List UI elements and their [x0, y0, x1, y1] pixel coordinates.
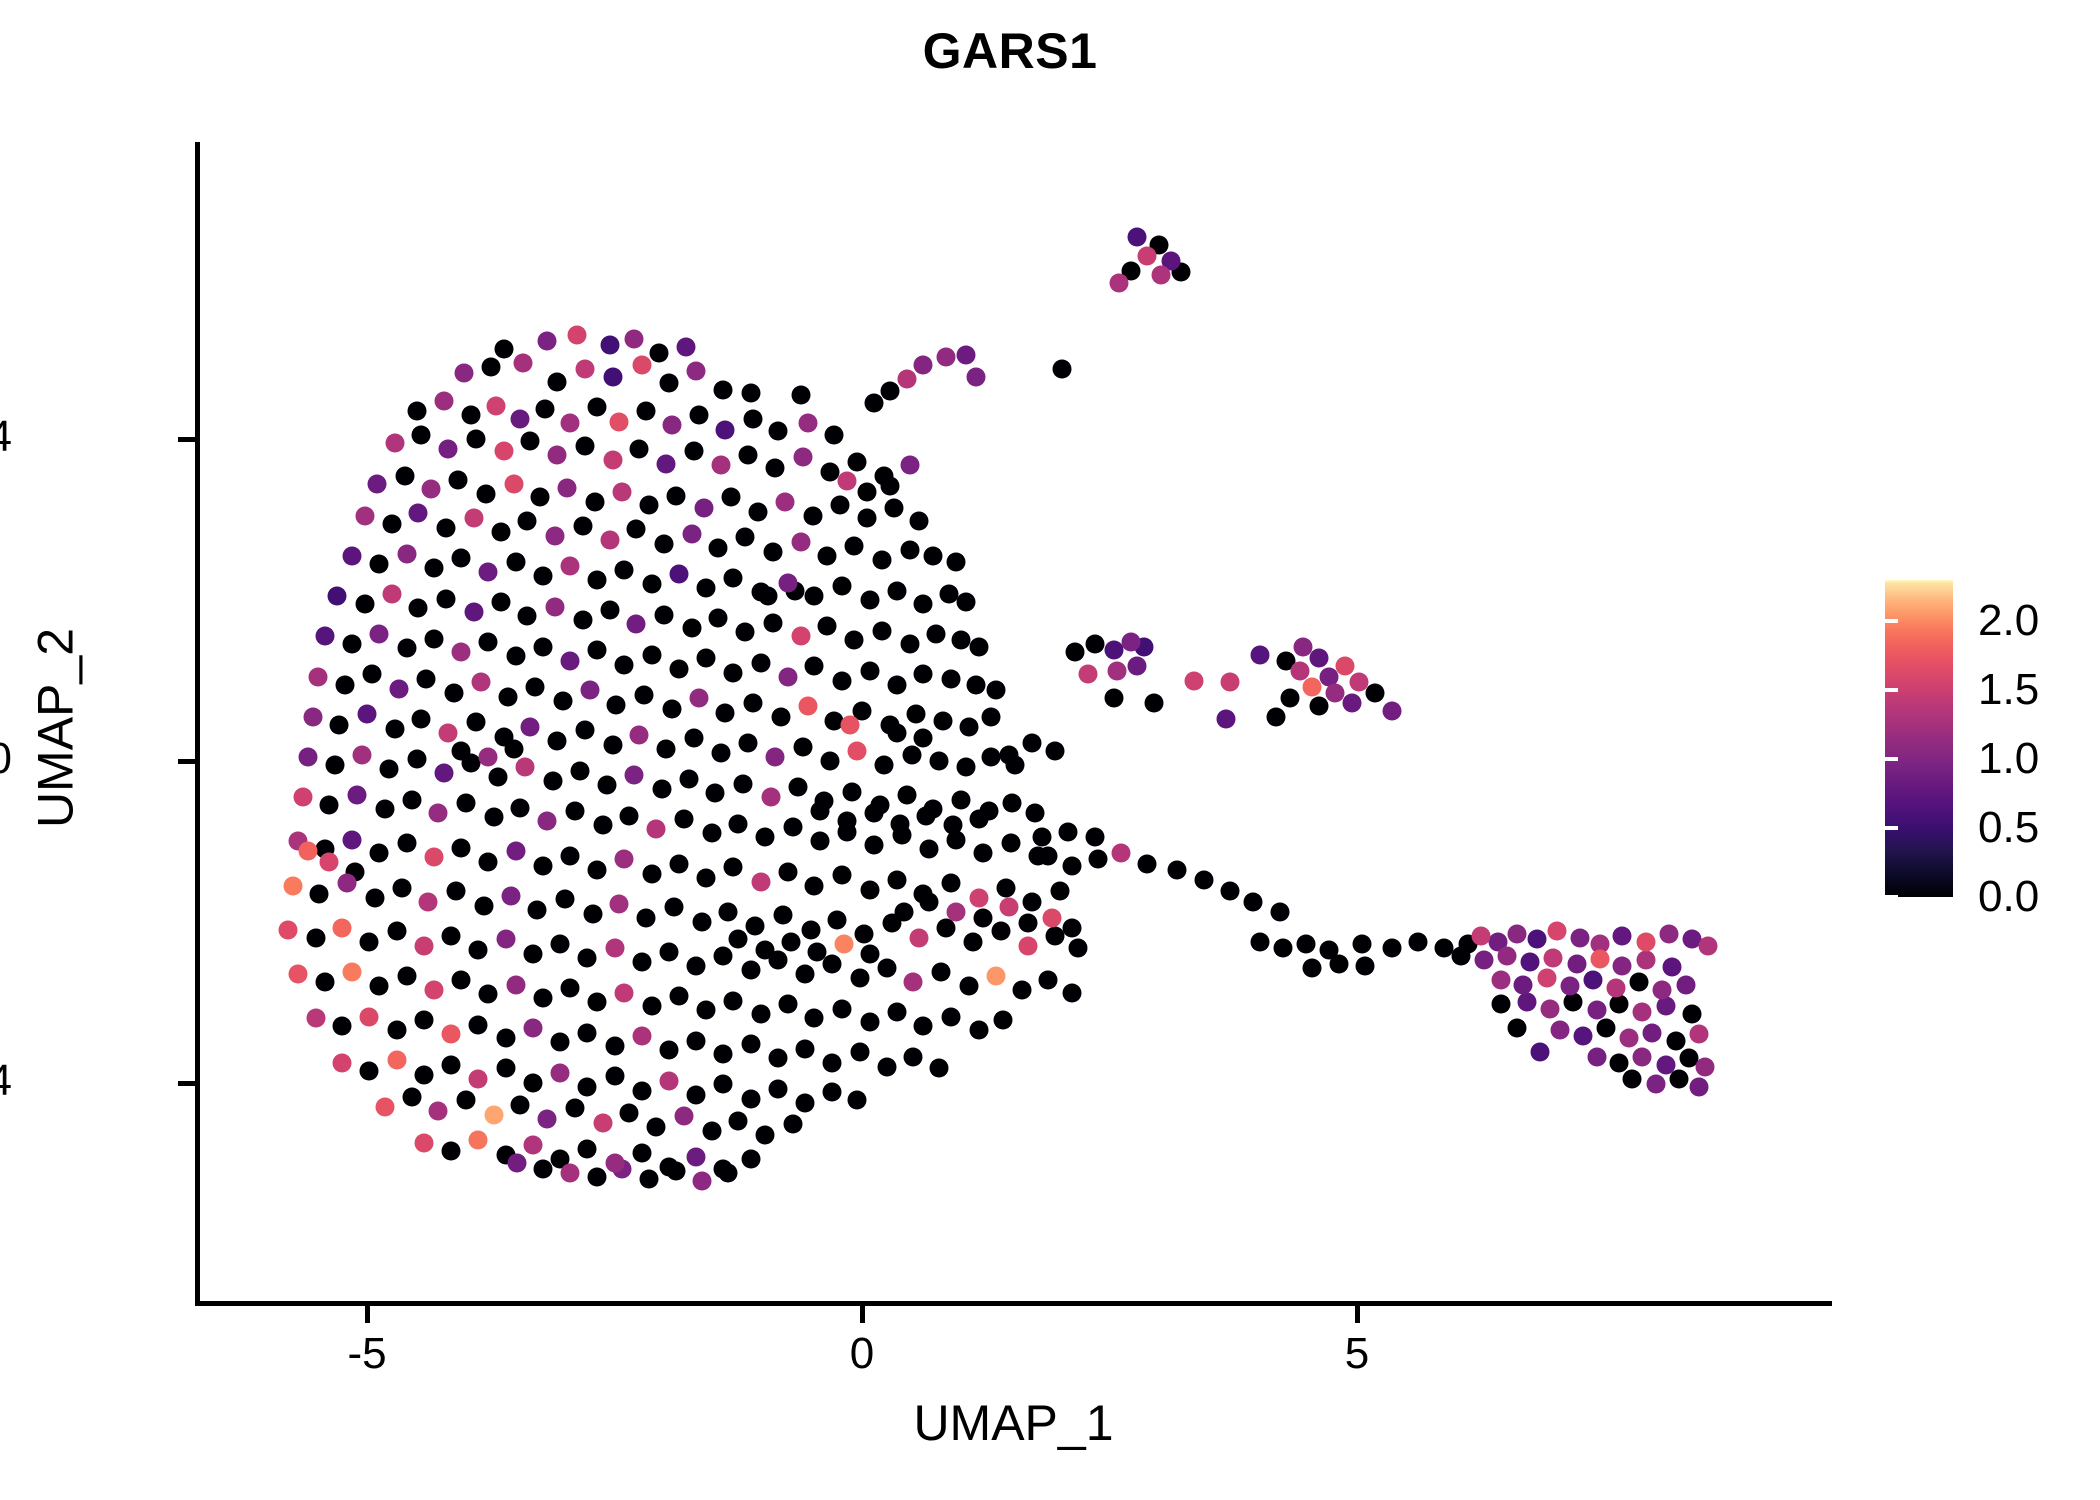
scatter-point — [551, 1033, 570, 1052]
scatter-point — [466, 430, 485, 449]
scatter-point — [359, 1007, 378, 1026]
colorbar-tick-mark — [1885, 895, 1898, 899]
scatter-point — [746, 916, 765, 935]
scatter-point — [709, 538, 728, 557]
scatter-point — [425, 559, 444, 578]
scatter-point — [650, 343, 669, 362]
scatter-point — [702, 1121, 721, 1140]
scatter-point — [615, 983, 634, 1002]
scatter-point — [1620, 1029, 1639, 1048]
y-axis-line — [195, 142, 200, 1305]
scatter-point — [407, 750, 426, 769]
scatter-point — [722, 488, 741, 507]
scatter-point — [1052, 359, 1071, 378]
scatter-point — [468, 1015, 487, 1034]
scatter-point — [729, 1112, 748, 1131]
scatter-point — [686, 362, 705, 381]
scatter-point — [679, 769, 698, 788]
scatter-point — [605, 938, 624, 957]
scatter-point — [356, 506, 375, 525]
scatter-point — [385, 719, 404, 738]
scatter-point — [897, 370, 916, 389]
scatter-point — [900, 541, 919, 560]
scatter-point — [1597, 1018, 1616, 1037]
scatter-point — [278, 920, 297, 939]
scatter-point — [1128, 657, 1147, 676]
scatter-point — [397, 544, 416, 563]
scatter-point — [805, 876, 824, 895]
scatter-point — [600, 600, 619, 619]
scatter-point — [1656, 997, 1675, 1016]
scatter-point — [1662, 957, 1681, 976]
scatter-point — [610, 412, 629, 431]
scatter-point — [508, 1154, 527, 1173]
scatter-point — [567, 325, 586, 344]
scatter-point — [429, 804, 448, 823]
scatter-point — [1652, 981, 1671, 1000]
scatter-point — [536, 399, 555, 418]
scatter-point — [838, 472, 857, 491]
scatter-point — [841, 715, 860, 734]
scatter-point — [969, 809, 988, 828]
scatter-point — [587, 1168, 606, 1187]
scatter-point — [1471, 927, 1490, 946]
scatter-point — [412, 710, 431, 729]
scatter-point — [310, 884, 329, 903]
scatter-point — [900, 456, 919, 475]
scatter-point — [1068, 938, 1087, 957]
scatter-point — [369, 977, 388, 996]
scatter-point — [724, 991, 743, 1010]
scatter-point — [1062, 983, 1081, 1002]
scatter-point — [791, 627, 810, 646]
scatter-point — [488, 768, 507, 787]
scatter-point — [471, 673, 490, 692]
scatter-point — [686, 1085, 705, 1104]
scatter-point — [914, 595, 933, 614]
scatter-point — [714, 1075, 733, 1094]
scatter-point — [669, 659, 688, 678]
scatter-point — [531, 488, 550, 507]
colorbar-tick-mark — [1885, 826, 1898, 830]
scatter-point — [692, 912, 711, 931]
scatter-point — [712, 743, 731, 762]
scatter-point — [320, 796, 339, 815]
scatter-point — [630, 726, 649, 745]
scatter-point — [570, 761, 589, 780]
scatter-point — [742, 1089, 761, 1108]
scatter-point — [823, 1053, 842, 1072]
scatter-point — [907, 705, 926, 724]
scatter-point — [749, 502, 768, 521]
scatter-point — [659, 1041, 678, 1060]
scatter-point — [320, 852, 339, 871]
scatter-point — [575, 359, 594, 378]
scatter-point — [501, 887, 520, 906]
scatter-point — [944, 816, 963, 835]
scatter-point — [560, 846, 579, 865]
scatter-point — [575, 721, 594, 740]
scatter-point — [1547, 922, 1566, 941]
scatter-point — [1508, 1018, 1527, 1037]
scatter-point — [1666, 1031, 1685, 1050]
x-axis-line — [195, 1301, 1832, 1306]
scatter-point — [937, 348, 956, 367]
scatter-point — [833, 576, 852, 595]
scatter-point — [506, 552, 525, 571]
scatter-point — [742, 1149, 761, 1168]
y-axis-title: UMAP_2 — [31, 147, 81, 1310]
scatter-point — [1498, 946, 1517, 965]
scatter-point — [367, 474, 386, 493]
scatter-point — [429, 1101, 448, 1120]
scatter-point — [452, 643, 471, 662]
scatter-point — [455, 364, 474, 383]
scatter-point — [484, 808, 503, 827]
scatter-point — [724, 858, 743, 877]
scatter-point — [755, 940, 774, 959]
scatter-point — [1151, 265, 1170, 284]
colorbar-tick-mark — [1885, 619, 1898, 623]
scatter-point — [468, 1131, 487, 1150]
scatter-point — [914, 729, 933, 748]
scatter-point — [1699, 936, 1718, 955]
scatter-point — [752, 1005, 771, 1024]
scatter-point — [392, 879, 411, 898]
scatter-point — [712, 456, 731, 475]
scatter-point — [900, 635, 919, 654]
scatter-point — [714, 380, 733, 399]
scatter-point — [333, 1053, 352, 1072]
scatter-point — [409, 599, 428, 618]
scatter-point — [551, 1063, 570, 1082]
scatter-point — [1167, 860, 1186, 879]
scatter-point — [447, 882, 466, 901]
scatter-point — [534, 989, 553, 1008]
scatter-point — [468, 940, 487, 959]
scatter-point — [719, 903, 738, 922]
scatter-point — [1013, 981, 1032, 1000]
scatter-point — [387, 1051, 406, 1070]
x-tick-label: -5 — [347, 1332, 386, 1376]
scatter-point — [382, 584, 401, 603]
scatter-point — [854, 924, 873, 943]
scatter-point — [811, 832, 830, 851]
colorbar-tick-label: 1.0 — [1978, 737, 2039, 781]
scatter-point — [1590, 949, 1609, 968]
scatter-point — [904, 973, 923, 992]
scatter-point — [316, 973, 335, 992]
scatter-point — [1085, 828, 1104, 847]
scatter-point — [633, 1026, 652, 1045]
scatter-point — [534, 856, 553, 875]
scatter-point — [791, 386, 810, 405]
scatter-point — [330, 715, 349, 734]
scatter-point — [518, 512, 537, 531]
scatter-point — [686, 1147, 705, 1166]
scatter-point — [930, 1059, 949, 1078]
scatter-point — [877, 1057, 896, 1076]
scatter-point — [768, 1080, 787, 1099]
scatter-point — [1128, 227, 1147, 246]
scatter-point — [306, 1009, 325, 1028]
scatter-point — [864, 394, 883, 413]
scatter-point — [627, 520, 646, 539]
scatter-point — [1365, 683, 1384, 702]
scatter-point — [872, 621, 891, 640]
scatter-point — [575, 436, 594, 455]
y-tick-label: -4 — [0, 1059, 12, 1103]
scatter-point — [755, 1125, 774, 1144]
scatter-point — [902, 745, 921, 764]
scatter-point — [557, 478, 576, 497]
scatter-point — [573, 517, 592, 536]
scatter-point — [937, 919, 956, 938]
scatter-point — [835, 935, 854, 954]
scatter-point — [328, 587, 347, 606]
scatter-point — [647, 1117, 666, 1136]
scatter-point — [548, 446, 567, 465]
scatter-point — [821, 752, 840, 771]
scatter-point — [534, 637, 553, 656]
scatter-point — [752, 872, 771, 891]
scatter-point — [452, 838, 471, 857]
scatter-point — [382, 514, 401, 533]
scatter-point — [397, 967, 416, 986]
colorbar-legend: 2.01.51.00.50.0 — [1885, 580, 2085, 900]
scatter-point — [1296, 935, 1315, 954]
scatter-point — [999, 898, 1018, 917]
scatter-point — [353, 745, 372, 764]
scatter-point — [1560, 977, 1579, 996]
scatter-point — [843, 782, 862, 801]
scatter-point — [1280, 689, 1299, 708]
scatter-point — [890, 814, 909, 833]
scatter-point — [851, 1043, 870, 1062]
scatter-point — [778, 862, 797, 881]
scatter-point — [593, 1113, 612, 1132]
scatter-point — [887, 1002, 906, 1021]
scatter-point — [1250, 645, 1269, 664]
scatter-point — [625, 766, 644, 785]
scatter-point — [808, 943, 827, 962]
scatter-point — [442, 1025, 461, 1044]
scatter-point — [942, 874, 961, 893]
scatter-point — [655, 605, 674, 624]
scatter-point — [1656, 1055, 1675, 1074]
scatter-point — [1637, 932, 1656, 951]
scatter-point — [969, 637, 988, 656]
scatter-point — [709, 608, 728, 627]
scatter-point — [729, 930, 748, 949]
scatter-point — [643, 997, 662, 1016]
scatter-point — [293, 788, 312, 807]
scatter-point — [1352, 935, 1371, 954]
scatter-point — [338, 874, 357, 893]
scatter-point — [1001, 834, 1020, 853]
scatter-point — [556, 890, 575, 909]
scatter-point — [437, 518, 456, 537]
scatter-point — [795, 965, 814, 984]
scatter-point — [788, 777, 807, 796]
scatter-point — [1633, 1047, 1652, 1066]
scatter-point — [993, 1010, 1012, 1029]
scatter-point — [504, 474, 523, 493]
scatter-point — [1587, 1047, 1606, 1066]
scatter-point — [402, 790, 421, 809]
scatter-point — [637, 402, 656, 421]
scatter-point — [303, 707, 322, 726]
scatter-point — [1019, 936, 1038, 955]
scatter-point — [1330, 954, 1349, 973]
scatter-point — [696, 868, 715, 887]
y-tick-label: 4 — [0, 415, 12, 459]
scatter-point — [666, 1162, 685, 1181]
scatter-point — [659, 943, 678, 962]
scatter-point — [560, 651, 579, 670]
scatter-point — [613, 482, 632, 501]
scatter-point — [724, 568, 743, 587]
scatter-point — [917, 806, 936, 825]
scatter-point — [516, 758, 535, 777]
scatter-point — [793, 737, 812, 756]
scatter-point — [538, 332, 557, 351]
scatter-point — [1637, 951, 1656, 970]
scatter-point — [362, 665, 381, 684]
scatter-point — [887, 870, 906, 889]
scatter-point — [1122, 633, 1141, 652]
scatter-point — [546, 597, 565, 616]
scatter-point — [1633, 1002, 1652, 1021]
scatter-point — [828, 911, 847, 930]
scatter-point — [587, 571, 606, 590]
scatter-point — [496, 1059, 515, 1078]
scatter-point — [442, 1055, 461, 1074]
scatter-point — [551, 935, 570, 954]
scatter-point — [1349, 673, 1368, 692]
scatter-point — [1112, 844, 1131, 863]
scatter-point — [942, 1007, 961, 1026]
scatter-point — [734, 774, 753, 793]
scatter-point — [534, 1160, 553, 1179]
colorbar-tick-label: 2.0 — [1978, 599, 2039, 643]
scatter-point — [1184, 671, 1203, 690]
scatter-point — [763, 613, 782, 632]
scatter-point — [607, 695, 626, 714]
scatter-point — [415, 1133, 434, 1152]
scatter-point — [798, 414, 817, 433]
scatter-point — [548, 731, 567, 750]
scatter-point — [1039, 970, 1058, 989]
scatter-point — [439, 440, 458, 459]
scatter-point — [768, 422, 787, 441]
scatter-point — [583, 904, 602, 923]
scatter-point — [288, 965, 307, 984]
colorbar-tick-mark — [2072, 688, 2085, 692]
scatter-point — [633, 1081, 652, 1100]
scatter-point — [914, 665, 933, 684]
scatter-point — [1355, 957, 1374, 976]
scatter-point — [1310, 697, 1329, 716]
scatter-point — [805, 657, 824, 676]
scatter-point — [577, 1023, 596, 1042]
scatter-point — [365, 888, 384, 907]
scatter-point — [775, 493, 794, 512]
scatter-point — [1290, 661, 1309, 680]
colorbar-gradient — [1885, 580, 1953, 897]
scatter-point — [714, 1045, 733, 1064]
scatter-point — [528, 900, 547, 919]
scatter-point — [857, 482, 876, 501]
scatter-point — [573, 611, 592, 630]
scatter-point — [857, 509, 876, 528]
scatter-point — [833, 866, 852, 885]
scatter-point — [498, 687, 517, 706]
scatter-point — [358, 705, 377, 724]
scatter-point — [422, 480, 441, 499]
scatter-point — [538, 812, 557, 831]
scatter-point — [887, 581, 906, 600]
colorbar-tick-mark — [1885, 688, 1898, 692]
scatter-point — [684, 729, 703, 748]
scatter-point — [719, 1163, 738, 1182]
scatter-point — [783, 1115, 802, 1134]
colorbar-tick-label: 0.0 — [1978, 875, 2039, 919]
plot-panel — [195, 142, 1832, 1303]
scatter-point — [763, 542, 782, 561]
scatter-point — [969, 1021, 988, 1040]
scatter-point — [831, 496, 850, 515]
scatter-point — [336, 675, 355, 694]
scatter-point — [412, 426, 431, 445]
scatter-point — [1326, 683, 1345, 702]
scatter-point — [947, 552, 966, 571]
scatter-point — [464, 603, 483, 622]
scatter-point — [930, 752, 949, 771]
scatter-point — [739, 446, 758, 465]
scatter-point — [1583, 970, 1602, 989]
scatter-point — [630, 440, 649, 459]
scatter-point — [1062, 856, 1081, 875]
scatter-point — [996, 879, 1015, 898]
scatter-point — [1538, 969, 1557, 988]
scatter-point — [771, 707, 790, 726]
scatter-point — [656, 739, 675, 758]
scatter-point — [506, 647, 525, 666]
scatter-point — [676, 337, 695, 356]
scatter-point — [534, 567, 553, 586]
scatter-point — [1065, 643, 1084, 662]
scatter-point — [587, 641, 606, 660]
scatter-point — [1567, 954, 1586, 973]
scatter-point — [1343, 694, 1362, 713]
scatter-point — [1676, 975, 1695, 994]
scatter-point — [696, 649, 715, 668]
scatter-point — [924, 546, 943, 565]
scatter-point — [308, 667, 327, 686]
scatter-point — [461, 406, 480, 425]
scatter-point — [778, 994, 797, 1013]
scatter-point — [560, 557, 579, 576]
scatter-point — [656, 454, 675, 473]
scatter-point — [833, 671, 852, 690]
scatter-point — [999, 745, 1018, 764]
scatter-point — [1541, 999, 1560, 1018]
scatter-point — [973, 844, 992, 863]
x-tick-mark — [860, 1306, 865, 1323]
scatter-point — [395, 466, 414, 485]
scatter-point — [506, 842, 525, 861]
